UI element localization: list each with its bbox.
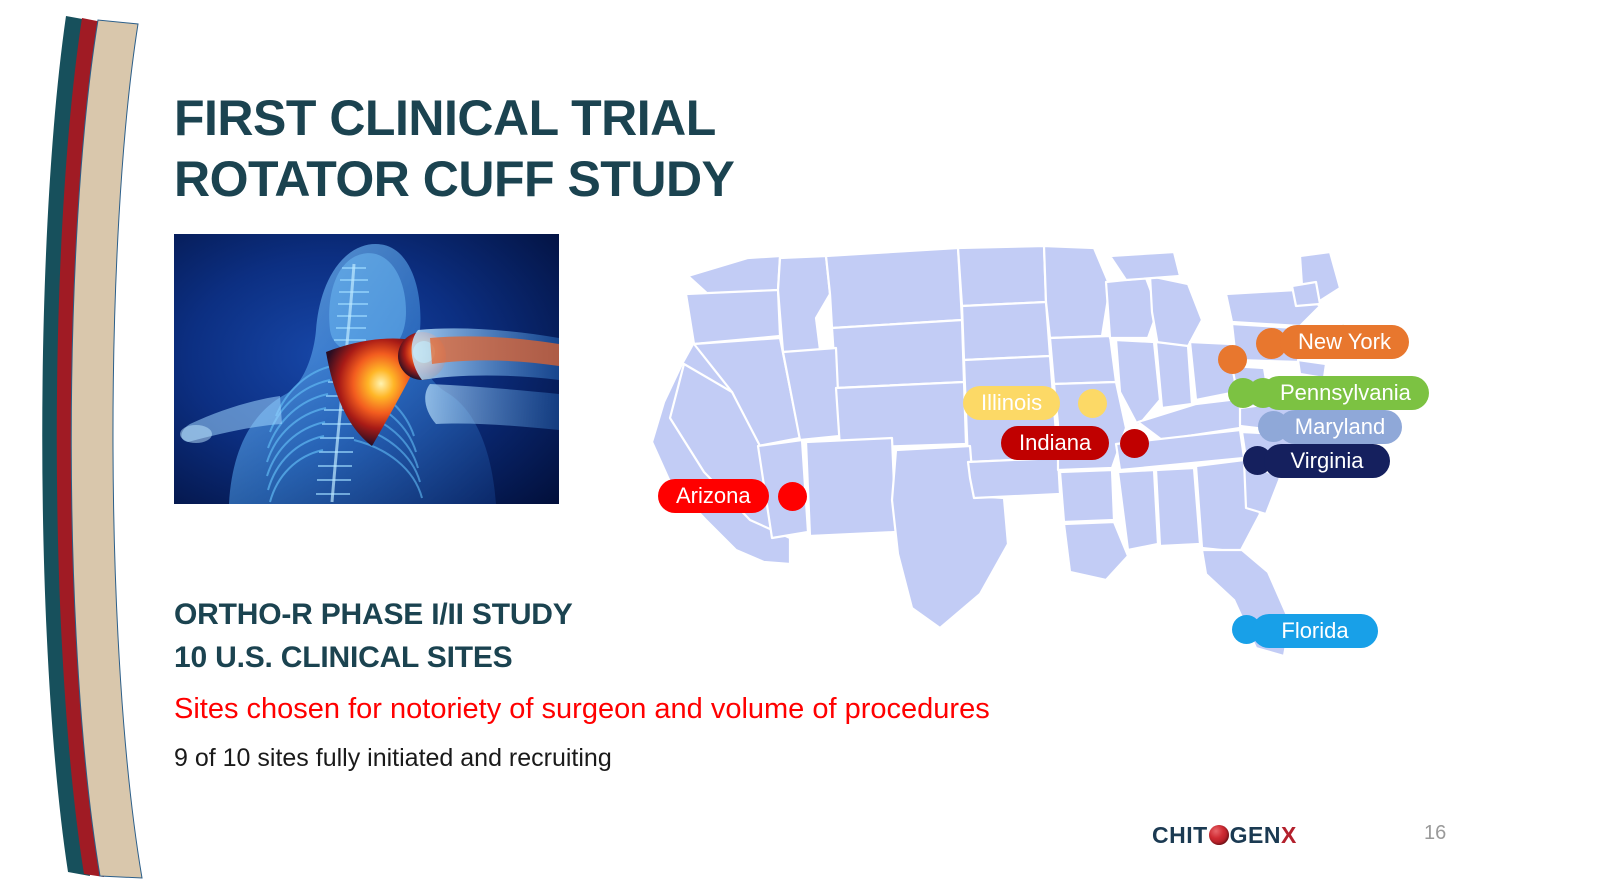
- subhead-line-1: ORTHO-R PHASE I/II STUDY: [174, 594, 934, 637]
- state-id: [778, 256, 830, 352]
- ribbon-red-arc: [57, 18, 104, 877]
- page-title: FIRST CLINICAL TRIAL ROTATOR CUFF STUDY: [174, 88, 1014, 210]
- logo-text-part-1: CHIT: [1152, 822, 1208, 849]
- site-pill-pennsylvania[interactable]: Pennsylvania: [1262, 376, 1429, 410]
- page-number: 16: [1424, 822, 1446, 845]
- state-al: [1156, 468, 1200, 546]
- site-dot-new-york-1[interactable]: [1218, 345, 1247, 374]
- logo-text-part-2: GEN: [1230, 822, 1281, 849]
- state-ms: [1118, 470, 1158, 550]
- state-in: [1156, 342, 1192, 408]
- title-line-1: FIRST CLINICAL TRIAL: [174, 88, 1014, 149]
- left-hand: [180, 425, 212, 443]
- site-label-pennsylvania: Pennsylvania: [1280, 376, 1411, 410]
- site-pill-indiana[interactable]: Indiana: [1001, 426, 1109, 460]
- site-pill-arizona[interactable]: Arizona: [658, 479, 769, 513]
- site-dot-indiana[interactable]: [1120, 429, 1149, 458]
- logo-text-part-3: X: [1281, 822, 1297, 849]
- site-label-virginia: Virginia: [1291, 444, 1364, 478]
- state-ia: [1050, 336, 1116, 384]
- site-label-new-york: New York: [1298, 325, 1391, 359]
- state-nm: [806, 438, 896, 536]
- site-label-florida: Florida: [1281, 614, 1348, 648]
- chitogenx-logo: CHIT GEN X: [1152, 818, 1322, 852]
- state-sd: [962, 302, 1050, 360]
- state-mn: [1044, 246, 1110, 338]
- state-wy: [832, 320, 964, 388]
- left-arc-ribbon-decoration: [30, 8, 160, 880]
- ribbon-tan-arc: [71, 20, 142, 878]
- state-la: [1064, 522, 1128, 580]
- state-co: [836, 382, 966, 448]
- state-nd: [958, 246, 1046, 306]
- red-sphere-icon: [1209, 825, 1229, 845]
- site-pill-illinois[interactable]: Illinois: [963, 386, 1060, 420]
- site-dot-illinois[interactable]: [1078, 389, 1107, 418]
- site-pill-new-york[interactable]: New York: [1280, 325, 1409, 359]
- site-pill-florida[interactable]: Florida: [1252, 614, 1378, 648]
- state-mi: [1150, 276, 1202, 350]
- shoulder-anatomy-image: [174, 234, 559, 504]
- state-nh-vt: [1292, 282, 1320, 306]
- site-label-arizona: Arizona: [676, 479, 751, 513]
- ribbon-teal-arc: [42, 16, 90, 876]
- state-or: [686, 290, 780, 344]
- site-label-maryland: Maryland: [1295, 410, 1385, 444]
- site-label-indiana: Indiana: [1019, 426, 1091, 460]
- state-mi-up: [1110, 252, 1180, 280]
- slide-canvas: FIRST CLINICAL TRIAL ROTATOR CUFF STUDY: [0, 0, 1600, 889]
- site-pill-virginia[interactable]: Virginia: [1264, 444, 1390, 478]
- body-text-red: Sites chosen for notoriety of surgeon an…: [174, 692, 1274, 727]
- site-label-illinois: Illinois: [981, 386, 1042, 420]
- body-text-black: 9 of 10 sites fully initiated and recrui…: [174, 743, 1274, 773]
- subhead-line-2: 10 U.S. CLINICAL SITES: [174, 637, 934, 680]
- site-pill-maryland[interactable]: Maryland: [1278, 410, 1402, 444]
- title-line-2: ROTATOR CUFF STUDY: [174, 149, 1014, 210]
- state-ok: [968, 458, 1060, 498]
- study-subheading: ORTHO-R PHASE I/II STUDY 10 U.S. CLINICA…: [174, 594, 934, 679]
- site-dot-arizona[interactable]: [778, 482, 807, 511]
- state-ar: [1060, 470, 1114, 522]
- state-mt: [826, 248, 962, 328]
